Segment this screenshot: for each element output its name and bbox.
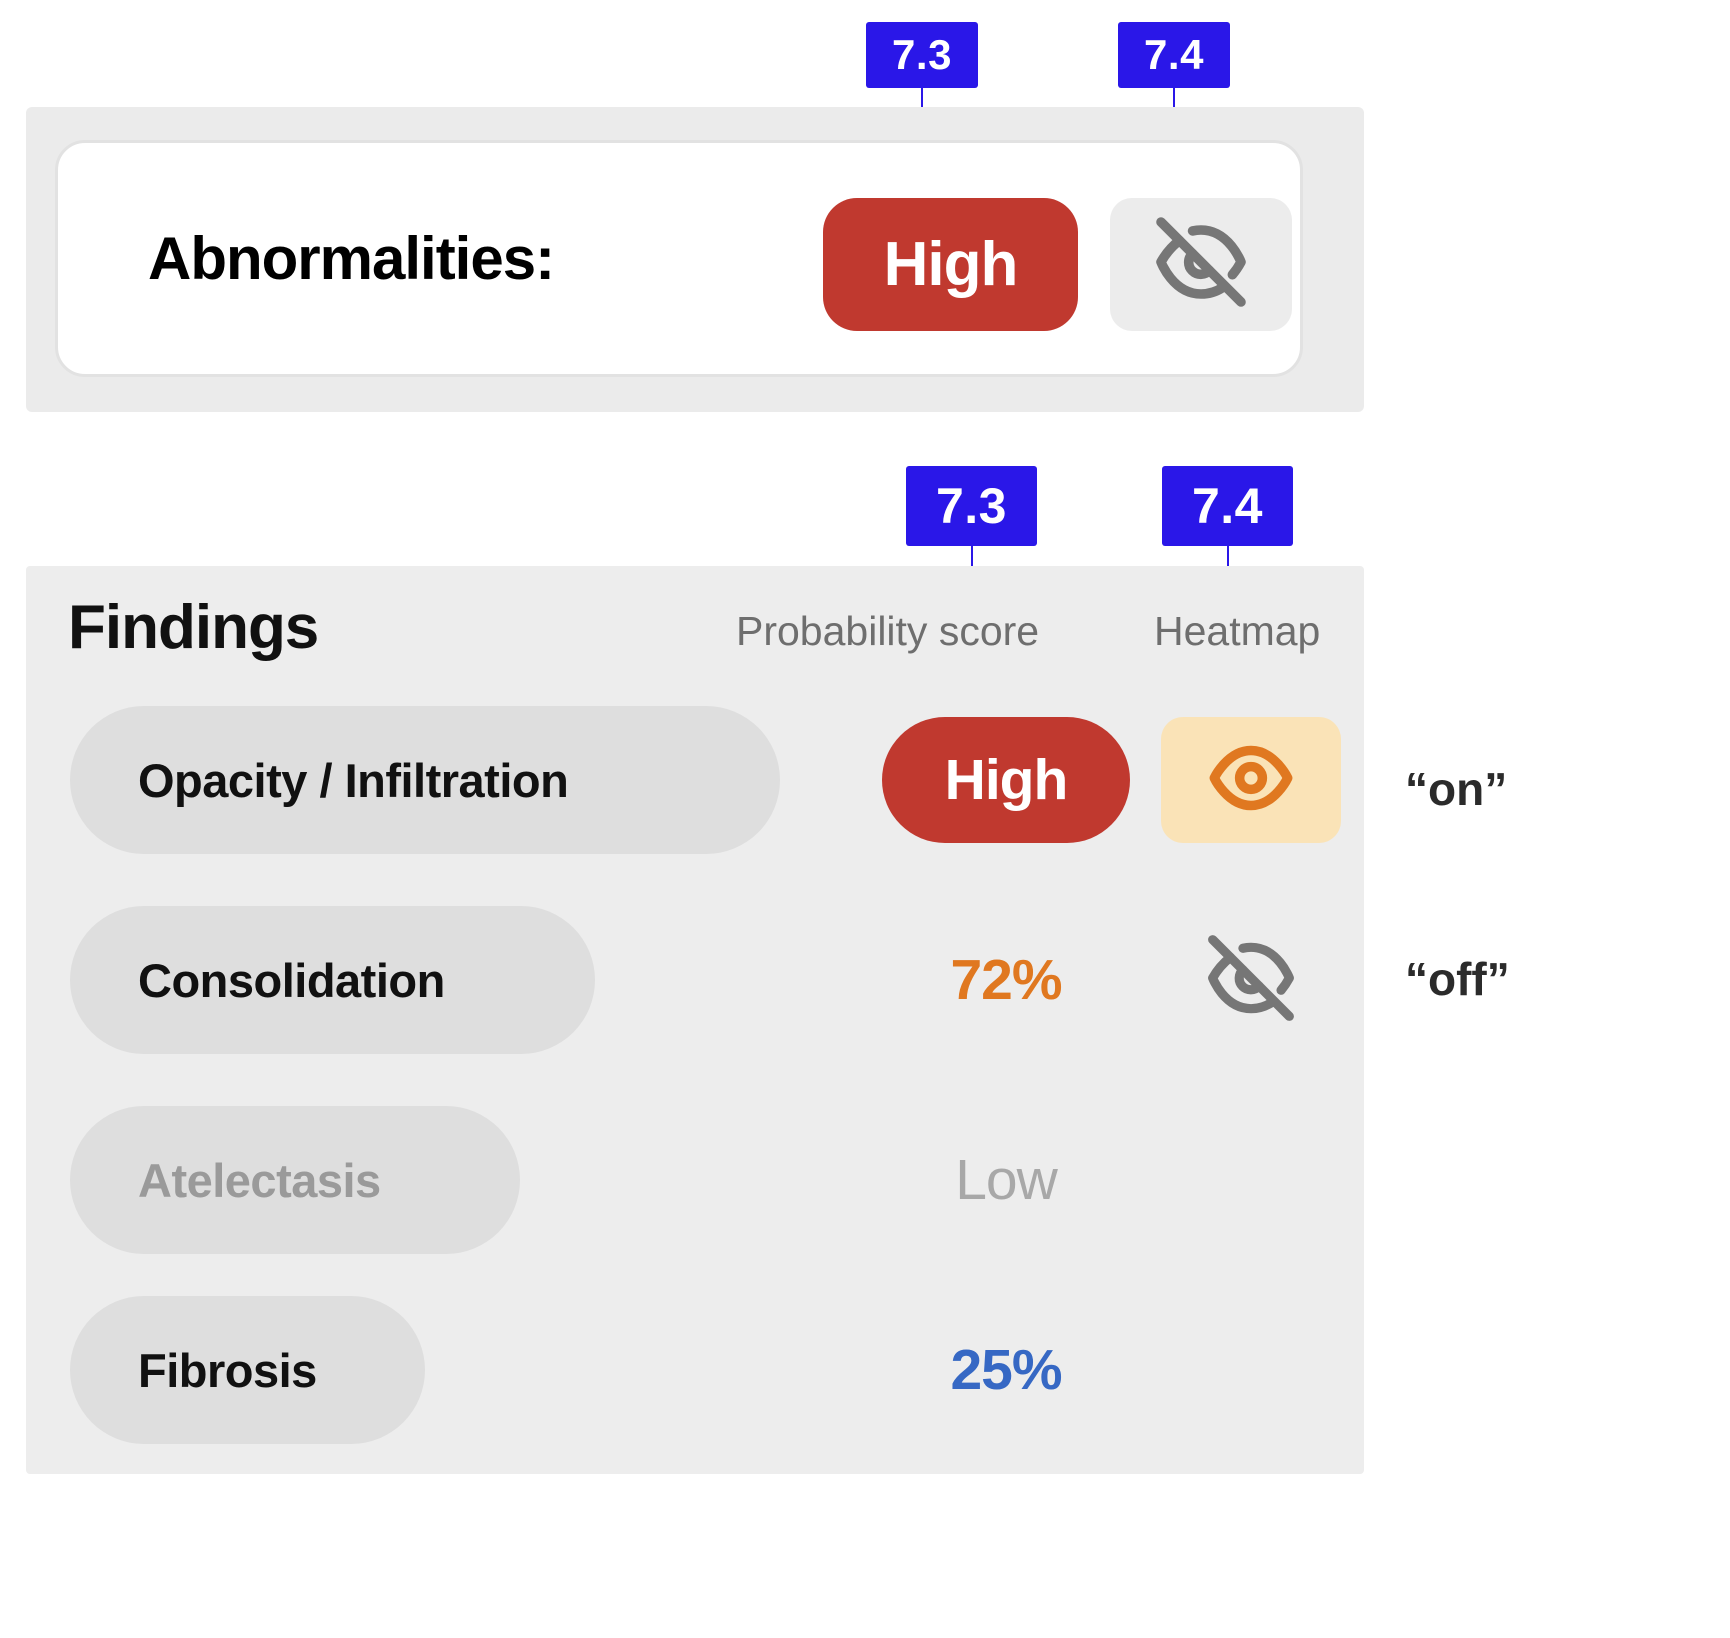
heatmap-toggle-on[interactable] <box>1161 717 1341 843</box>
probability-score-pill[interactable]: High <box>882 717 1130 843</box>
finding-row[interactable]: Consolidation 72% <box>26 906 1364 1054</box>
annotation-off: “off” <box>1405 952 1510 1006</box>
callout-col-heatmap: 7.4 <box>1162 466 1293 546</box>
heatmap-cell <box>1161 706 1361 854</box>
probability-score-cell: 72% <box>856 906 1156 1054</box>
finding-row[interactable]: Fibrosis 25% <box>26 1296 1364 1444</box>
finding-row[interactable]: Opacity / Infiltration High <box>26 706 1364 854</box>
abnormalities-card: Abnormalities: High <box>26 107 1364 412</box>
abnormalities-score-pill[interactable]: High <box>823 198 1078 331</box>
abnormalities-label: Abnormalities: <box>148 224 554 293</box>
probability-score-value: Low <box>955 1147 1057 1213</box>
finding-name-pill[interactable]: Fibrosis <box>70 1296 425 1444</box>
eye-icon <box>1207 734 1295 827</box>
callout-top-score: 7.3 <box>866 22 978 88</box>
finding-name-pill[interactable]: Consolidation <box>70 906 595 1054</box>
abnormalities-inner-card: Abnormalities: High <box>55 140 1303 377</box>
abnormalities-heatmap-toggle[interactable] <box>1110 198 1292 331</box>
column-header-probability-score: Probability score <box>736 608 1039 655</box>
finding-name: Fibrosis <box>138 1343 317 1398</box>
finding-name: Consolidation <box>138 953 445 1008</box>
finding-name-pill[interactable]: Opacity / Infiltration <box>70 706 780 854</box>
eye-off-icon <box>1205 932 1297 1029</box>
probability-score-value: 72% <box>950 947 1061 1013</box>
findings-panel: Findings Probability score Heatmap Opaci… <box>26 566 1364 1474</box>
callout-top-heatmap-box: 7.4 <box>1118 22 1230 88</box>
callout-top-score-box: 7.3 <box>866 22 978 88</box>
probability-score-cell: High <box>856 706 1156 854</box>
probability-score-cell: Low <box>856 1106 1156 1254</box>
finding-name: Opacity / Infiltration <box>138 753 568 808</box>
probability-score-value: 25% <box>950 1337 1061 1403</box>
probability-score-cell: 25% <box>856 1296 1156 1444</box>
callout-col-score: 7.3 <box>906 466 1037 546</box>
finding-name-pill[interactable]: Atelectasis <box>70 1106 520 1254</box>
heatmap-cell <box>1161 1296 1361 1444</box>
annotation-on: “on” <box>1405 762 1507 816</box>
heatmap-cell <box>1161 906 1361 1054</box>
finding-row[interactable]: Atelectasis Low <box>26 1106 1364 1254</box>
finding-name: Atelectasis <box>138 1153 381 1208</box>
heatmap-toggle-off[interactable] <box>1161 917 1341 1043</box>
callout-top-heatmap: 7.4 <box>1118 22 1230 88</box>
callout-col-score-box: 7.3 <box>906 466 1037 546</box>
heatmap-cell <box>1161 1106 1361 1254</box>
findings-title: Findings <box>68 592 318 663</box>
column-header-heatmap: Heatmap <box>1154 608 1320 655</box>
callout-col-heatmap-box: 7.4 <box>1162 466 1293 546</box>
eye-off-icon <box>1153 214 1249 315</box>
